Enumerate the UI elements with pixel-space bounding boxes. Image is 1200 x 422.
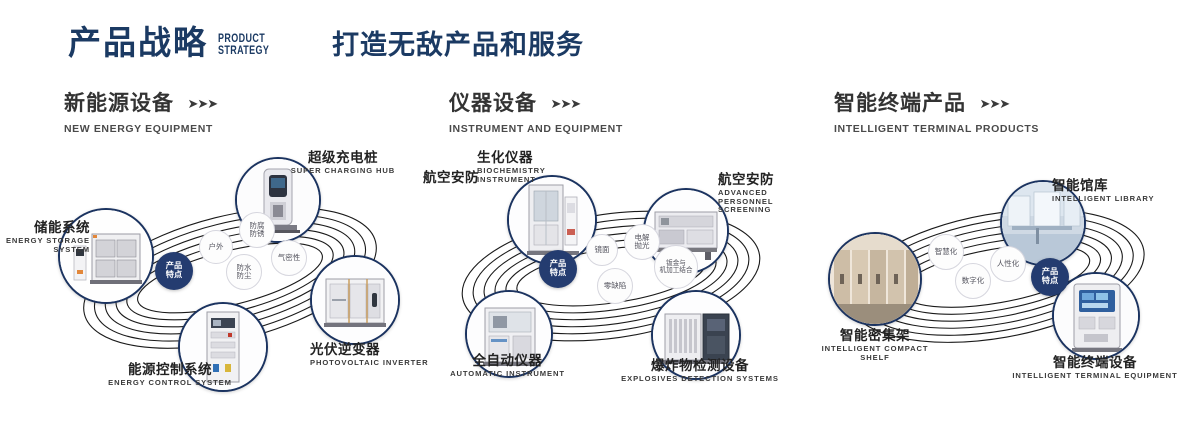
section-heading-instrument: 仪器设备 ➤➤➤ INSTRUMENT AND EQUIPMENT bbox=[449, 92, 623, 135]
section-heading-en: INTELLIGENT TERMINAL PRODUCTS bbox=[834, 123, 1039, 135]
caption-intelligent-library: 智能馆库 INTELLIGENT LIBRARY bbox=[1052, 178, 1200, 204]
bubble-label: 钣金与 机加工结合 bbox=[660, 260, 693, 274]
caption-cn: 能源控制系统 bbox=[75, 362, 265, 377]
bubble-label: 产品 特点 bbox=[550, 260, 566, 278]
caption-aviation-security: 航空安防 bbox=[393, 170, 479, 185]
page-title-cn: 产品战略 bbox=[68, 26, 208, 59]
section-heading-cn: 新能源设备 bbox=[64, 92, 174, 116]
caption-energy-control-system: 能源控制系统 ENERGY CONTROL SYSTEM bbox=[75, 362, 265, 388]
section-heading-cn: 仪器设备 bbox=[449, 92, 537, 116]
terminal-equipment-photo bbox=[1054, 274, 1138, 358]
caption-intelligent-compact-shelf: 智能密集架 INTELLIGENT COMPACT SHELF bbox=[810, 328, 940, 362]
page-title-en-line2: STRATEGY bbox=[218, 45, 269, 57]
caption-energy-storage-system: 储能系统 ENERGY STORAGE SYSTEM bbox=[0, 220, 90, 254]
caption-en: SUPER CHARGING HUB bbox=[278, 167, 408, 176]
bubble-outdoor[interactable]: 户外 bbox=[199, 230, 233, 264]
bubble-anti-corrosion[interactable]: 防腐 防锈 bbox=[239, 212, 275, 248]
bubble-label: 零缺陷 bbox=[604, 282, 627, 290]
bubble-airtightness[interactable]: 气密性 bbox=[271, 240, 307, 276]
caption-en: AUTOMATIC INSTRUMENT bbox=[415, 370, 600, 379]
bubble-product-features[interactable]: 产品 特点 bbox=[539, 250, 577, 288]
caption-en: INTELLIGENT COMPACT SHELF bbox=[819, 345, 931, 362]
caption-en: INTELLIGENT TERMINAL EQUIPMENT bbox=[995, 372, 1195, 381]
caption-cn: 全自动仪器 bbox=[415, 353, 600, 368]
bubble-label: 产品 特点 bbox=[1042, 268, 1058, 286]
page-subtitle: 打造无敌产品和服务 bbox=[332, 32, 584, 59]
chevron-right-icon: ➤➤➤ bbox=[550, 96, 580, 112]
bubble-label: 防水 防尘 bbox=[237, 264, 252, 280]
caption-biochemistry-instrument: 生化仪器 BIOCHEMISTRY INSTRUMENT bbox=[477, 150, 597, 184]
page-title-en: PRODUCT STRATEGY bbox=[218, 33, 269, 57]
bubble-label: 产品 特点 bbox=[166, 262, 182, 280]
bubble-label: 气密性 bbox=[278, 254, 301, 262]
bubble-label: 电解 抛光 bbox=[635, 234, 650, 250]
caption-en-text: BIOCHEMISTRY INSTRUMENT bbox=[477, 166, 546, 184]
bubble-label: 智慧化 bbox=[935, 248, 958, 256]
bubble-sheet-metal-machining[interactable]: 钣金与 机加工结合 bbox=[654, 245, 698, 289]
bubble-waterproof-dustproof[interactable]: 防水 防尘 bbox=[226, 254, 262, 290]
caption-cn: 智能终端设备 bbox=[995, 355, 1195, 370]
chevron-right-icon: ➤➤➤ bbox=[979, 96, 1009, 112]
caption-cn: 超级充电桩 bbox=[278, 150, 408, 165]
caption-en: ADVANCED PERSONNEL SCREENING bbox=[718, 189, 810, 215]
cluster-intelligent-terminal: 智能馆库 INTELLIGENT LIBRARY bbox=[800, 150, 1200, 410]
caption-en: EXPLOSIVES DETECTION SYSTEMS bbox=[610, 375, 790, 384]
bubble-smart[interactable]: 智慧化 bbox=[928, 234, 964, 270]
section-heading-new-energy: 新能源设备 ➤➤➤ NEW ENERGY EQUIPMENT bbox=[64, 92, 217, 135]
page-title-en-line1: PRODUCT bbox=[218, 33, 269, 45]
page-title: 产品战略 PRODUCT STRATEGY bbox=[68, 26, 284, 59]
caption-cn: 生化仪器 bbox=[477, 150, 597, 165]
caption-cn: 航空安防 bbox=[393, 170, 479, 185]
bubble-label: 数字化 bbox=[962, 277, 985, 285]
caption-en: ENERGY STORAGE SYSTEM bbox=[0, 237, 90, 254]
section-heading-en: NEW ENERGY EQUIPMENT bbox=[64, 123, 217, 135]
section-heading-cn: 智能终端产品 bbox=[834, 92, 966, 116]
caption-explosives-detection-systems: 爆炸物检测设备 EXPLOSIVES DETECTION SYSTEMS bbox=[610, 358, 790, 384]
caption-en: INTELLIGENT LIBRARY bbox=[1052, 195, 1200, 204]
bubble-humanized[interactable]: 人性化 bbox=[990, 246, 1026, 282]
bubble-zero-defect[interactable]: 零缺陷 bbox=[597, 268, 633, 304]
cluster-instrument: 生化仪器 BIOCHEMISTRY INSTRUMENT 航空安防 航 bbox=[415, 150, 815, 410]
caption-intelligent-terminal-equipment: 智能终端设备 INTELLIGENT TERMINAL EQUIPMENT bbox=[995, 355, 1195, 381]
bubble-label: 镜面 bbox=[595, 246, 610, 254]
section-heading-intelligent-terminal: 智能终端产品 ➤➤➤ INTELLIGENT TERMINAL PRODUCTS bbox=[834, 92, 1039, 135]
inverter-photo bbox=[312, 257, 398, 343]
bubble-label: 户外 bbox=[209, 243, 224, 251]
caption-en: ENERGY CONTROL SYSTEM bbox=[75, 379, 265, 388]
cluster-new-energy: 储能系统 ENERGY STORAGE SYSTEM 超级充电桩 SUPER C… bbox=[30, 150, 430, 410]
caption-automatic-instrument: 全自动仪器 AUTOMATIC INSTRUMENT bbox=[415, 353, 600, 379]
node-intelligent-compact-shelf[interactable] bbox=[828, 232, 922, 326]
caption-cn: 智能密集架 bbox=[810, 328, 940, 343]
bubble-label: 防腐 防锈 bbox=[250, 222, 265, 238]
bubble-product-features[interactable]: 产品 特点 bbox=[1031, 258, 1069, 296]
caption-cn: 爆炸物检测设备 bbox=[610, 358, 790, 373]
bubble-mirror-finish[interactable]: 镜面 bbox=[586, 234, 618, 266]
bubble-electrolytic-polishing[interactable]: 电解 抛光 bbox=[624, 224, 660, 260]
bubble-label: 人性化 bbox=[997, 260, 1020, 268]
chevron-right-icon: ➤➤➤ bbox=[187, 96, 217, 112]
compact-shelf-photo bbox=[830, 234, 920, 324]
bubble-product-features[interactable]: 产品 特点 bbox=[155, 252, 193, 290]
section-heading-en: INSTRUMENT AND EQUIPMENT bbox=[449, 123, 623, 135]
caption-en: BIOCHEMISTRY INSTRUMENT bbox=[477, 167, 551, 184]
bubble-digital[interactable]: 数字化 bbox=[955, 263, 991, 299]
node-photovoltaic-inverter[interactable] bbox=[310, 255, 400, 345]
caption-cn: 储能系统 bbox=[0, 220, 90, 235]
caption-cn: 智能馆库 bbox=[1052, 178, 1200, 193]
product-strategy-infographic: 产品战略 PRODUCT STRATEGY 打造无敌产品和服务 新能源设备 ➤➤… bbox=[0, 0, 1200, 422]
caption-super-charging-hub: 超级充电桩 SUPER CHARGING HUB bbox=[278, 150, 408, 176]
